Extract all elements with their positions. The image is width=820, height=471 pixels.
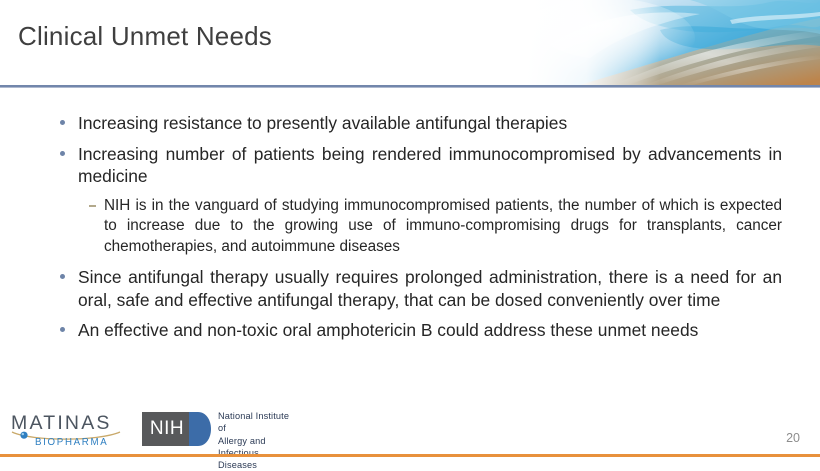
bullet-text: Increasing number of patients being rend… bbox=[78, 143, 782, 188]
bullet-item: Increasing resistance to presently avail… bbox=[56, 112, 782, 135]
dash-marker-icon bbox=[89, 205, 96, 207]
niaid-line-3: Infectious Diseases bbox=[218, 447, 292, 471]
bullet-text: An effective and non-toxic oral amphoter… bbox=[78, 319, 782, 342]
bullet-item: Increasing number of patients being rend… bbox=[56, 143, 782, 188]
page-title: Clinical Unmet Needs bbox=[18, 19, 272, 53]
niaid-name: National Institute of Allergy and Infect… bbox=[218, 410, 292, 471]
footer-divider bbox=[0, 454, 820, 457]
niaid-line-1: National Institute of bbox=[218, 410, 292, 435]
bullet-marker-icon bbox=[60, 151, 65, 156]
bullet-list: Increasing resistance to presently avail… bbox=[56, 112, 782, 342]
header-divider bbox=[0, 85, 820, 89]
nih-acronym: NIH bbox=[142, 412, 192, 446]
bullet-text: Increasing resistance to presently avail… bbox=[78, 112, 782, 135]
header-divider-line-bottom bbox=[0, 87, 820, 88]
bullet-marker-icon bbox=[60, 120, 65, 125]
sub-bullet-item: NIH is in the vanguard of studying immun… bbox=[89, 196, 782, 258]
bullet-item: Since antifungal therapy usually require… bbox=[56, 266, 782, 311]
bullet-item: An effective and non-toxic oral amphoter… bbox=[56, 319, 782, 342]
matinas-biopharma-logo: MATINAS BIOPHARMA bbox=[10, 413, 122, 449]
nih-niaid-logo: NIH National Institute of Allergy and In… bbox=[142, 410, 292, 450]
bullet-marker-icon bbox=[60, 327, 65, 332]
bullet-marker-icon bbox=[60, 274, 65, 279]
header-banner-image bbox=[430, 0, 820, 85]
matinas-subwordmark: BIOPHARMA bbox=[35, 437, 108, 448]
sub-bullet-list: NIH is in the vanguard of studying immun… bbox=[89, 196, 782, 258]
sub-bullet-text: NIH is in the vanguard of studying immun… bbox=[104, 197, 782, 255]
bullet-text: Since antifungal therapy usually require… bbox=[78, 266, 782, 311]
page-number: 20 bbox=[786, 431, 800, 445]
slide: Clinical Unmet Needs Increasing resistan… bbox=[0, 0, 820, 461]
niaid-line-2: Allergy and bbox=[218, 435, 292, 447]
nih-chevron-arrow-icon bbox=[189, 412, 212, 446]
